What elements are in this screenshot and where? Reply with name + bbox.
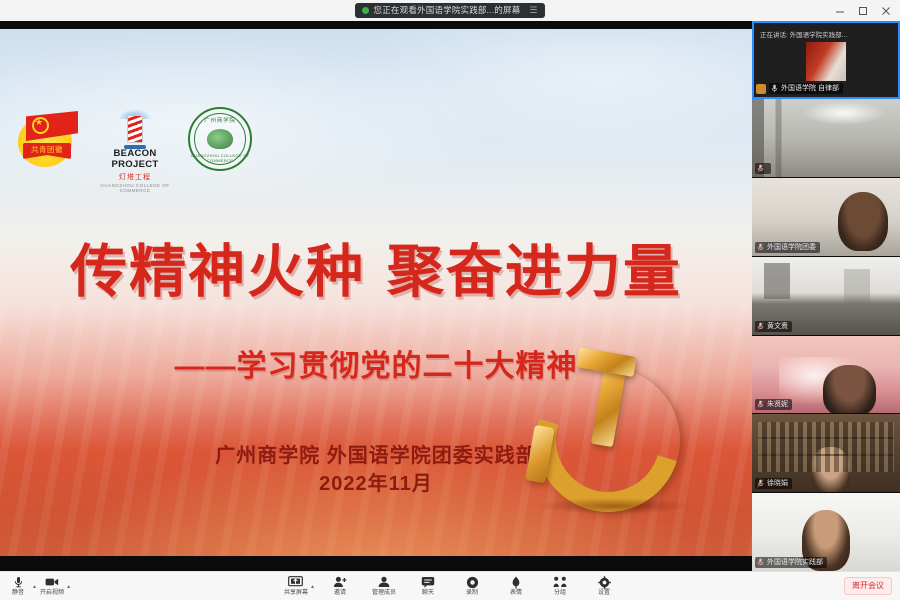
record-icon — [466, 576, 479, 589]
beacon-logo-line2: PROJECT — [100, 160, 170, 171]
screen-share-icon — [288, 576, 303, 589]
zoom-meeting-window: 您正在观看外国语学院实践部...的屏幕 ☰ — [0, 0, 900, 600]
slide-headline: 传精神火种 聚奋进力量 — [0, 244, 752, 301]
seal-center-emblem — [207, 129, 233, 149]
presentation-slide: 共青团徽 BEACON PROJECT 灯塔工程 GUANGZHOU COLLE… — [0, 29, 752, 556]
microphone-muted-icon — [757, 558, 764, 567]
hammer-group — [540, 338, 709, 507]
microphone-muted-icon — [757, 400, 764, 409]
share-screen-button[interactable]: 共享屏幕 ▲ — [284, 576, 308, 597]
chat-button-label: 聊天 — [422, 590, 434, 597]
share-screen-button-label: 共享屏幕 — [284, 590, 308, 597]
microphone-muted-icon — [757, 243, 764, 252]
beacon-project-logo: BEACON PROJECT 灯塔工程 GUANGZHOU COLLEGE OF… — [100, 107, 170, 193]
tile-avatar-badge — [756, 84, 766, 94]
tile-name-label-6: 外国语学院实践部 — [755, 557, 827, 568]
tile-name-label-0: 外国语学院 自律部 — [769, 83, 843, 94]
participant-tile-3[interactable]: 黄文熹 — [752, 257, 900, 336]
beacon-logo-line1: BEACON — [100, 149, 170, 160]
slide-logo-row: 共青团徽 BEACON PROJECT 灯塔工程 GUANGZHOU COLLE… — [16, 107, 252, 193]
toolbar-center-group: 共享屏幕 ▲ 邀请 — [0, 572, 900, 600]
seal-bottom-text: GUANGZHOU COLLEGE OF COMMERCE — [190, 153, 250, 163]
tile-person-silhouette — [823, 365, 876, 414]
sharing-notice-text: 您正在观看外国语学院实践部...的屏幕 — [374, 3, 521, 18]
tile-person-silhouette — [811, 447, 849, 492]
tile-name-label-2: 外国语学院团委 — [755, 242, 820, 253]
party-hammer-sickle-emblem — [524, 340, 704, 510]
settings-button[interactable]: 设置 — [592, 576, 616, 597]
leave-meeting-button[interactable]: 离开会议 — [844, 577, 892, 595]
microphone-icon — [771, 84, 778, 93]
invite-user-icon — [333, 576, 347, 589]
title-bar: 您正在观看外国语学院实践部...的屏幕 ☰ — [0, 0, 900, 21]
toolbar-right-group: 离开会议 — [844, 572, 892, 600]
tile-name-label-4: 朱贤妮 — [755, 399, 792, 410]
participant-tile-2[interactable]: 外国语学院团委 — [752, 178, 900, 257]
minimize-icon[interactable] — [829, 0, 850, 21]
reactions-button-label: 表情 — [510, 590, 522, 597]
reactions-button[interactable]: 表情 — [504, 576, 528, 597]
tile-video-background — [752, 99, 900, 177]
participant-tile-4[interactable]: 朱贤妮 — [752, 336, 900, 415]
emblem-shadow — [534, 498, 694, 514]
microphone-muted-icon — [757, 322, 764, 331]
tile-name-label-1 — [755, 163, 771, 174]
window-controls — [829, 0, 896, 21]
breakout-rooms-icon — [553, 576, 567, 589]
screen-share-notice[interactable]: 您正在观看外国语学院实践部...的屏幕 ☰ — [355, 3, 546, 18]
participant-tile-1[interactable] — [752, 99, 900, 178]
reactions-icon — [511, 576, 521, 589]
breakout-rooms-button-label: 分组 — [554, 590, 566, 597]
guangzhou-college-seal: 广州商学院 GUANGZHOU COLLEGE OF COMMERCE — [188, 107, 252, 171]
manage-participants-button-label: 管理成员 — [372, 590, 396, 597]
participant-tile-6[interactable]: 外国语学院实践部 — [752, 493, 900, 572]
participant-video-rail[interactable]: 正在讲话: 外国语学院实践部... 外国语学院 自律部 — [752, 21, 900, 572]
beacon-tower-shape — [127, 115, 143, 143]
invite-button-label: 邀请 — [334, 590, 346, 597]
tile-person-silhouette — [838, 192, 888, 251]
beacon-logo-chinese: 灯塔工程 — [100, 172, 170, 182]
tile-name-text: 朱贤妮 — [767, 400, 788, 409]
tile-name-text: 黄文熹 — [767, 322, 788, 331]
tile-speaking-label: 正在讲话: 外国语学院实践部... — [760, 31, 892, 40]
tile-name-label-3: 黄文熹 — [755, 321, 792, 332]
participant-tile-0[interactable]: 正在讲话: 外国语学院实践部... 外国语学院 自律部 — [752, 21, 900, 99]
microphone-muted-icon — [757, 479, 764, 488]
tile-name-text: 徐晓娟 — [767, 479, 788, 488]
hamburger-menu-icon[interactable]: ☰ — [529, 3, 538, 18]
beacon-base-shape — [124, 145, 146, 149]
tile-name-label-5: 徐晓娟 — [755, 478, 792, 489]
shared-screen-stage[interactable]: 共青团徽 BEACON PROJECT 灯塔工程 GUANGZHOU COLLE… — [0, 21, 752, 572]
league-star-icon — [32, 117, 49, 134]
chevron-up-icon[interactable]: ▲ — [310, 584, 315, 590]
manage-participants-button[interactable]: 管理成员 — [372, 576, 396, 597]
beacon-lighthouse-icon — [100, 109, 170, 149]
tile-name-text: 外国语学院团委 — [767, 243, 816, 252]
tile-name-text: 外国语学院 自律部 — [781, 84, 839, 93]
tile-share-thumbnail — [806, 42, 846, 81]
sharing-status-dot — [362, 7, 369, 14]
record-button-label: 录制 — [466, 590, 478, 597]
meeting-toolbar: 静音 ▲ 开启视频 ▲ — [0, 571, 900, 600]
gear-icon — [598, 576, 611, 589]
chat-button[interactable]: 聊天 — [416, 576, 440, 597]
close-icon[interactable] — [875, 0, 896, 21]
microphone-muted-icon — [757, 164, 764, 173]
invite-button[interactable]: 邀请 — [328, 576, 352, 597]
seal-top-text: 广州商学院 — [190, 116, 250, 124]
participant-tile-5[interactable]: 徐晓娟 — [752, 414, 900, 493]
settings-button-label: 设置 — [598, 590, 610, 597]
record-button[interactable]: 录制 — [460, 576, 484, 597]
breakout-rooms-button[interactable]: 分组 — [548, 576, 572, 597]
tile-name-text: 外国语学院实践部 — [767, 558, 823, 567]
beacon-logo-subtext: GUANGZHOU COLLEGE OF COMMERCE — [100, 183, 170, 193]
communist-youth-league-emblem: 共青团徽 — [16, 107, 82, 169]
chat-bubble-icon — [421, 576, 435, 589]
maximize-icon[interactable] — [852, 0, 873, 21]
participants-icon — [377, 576, 391, 589]
